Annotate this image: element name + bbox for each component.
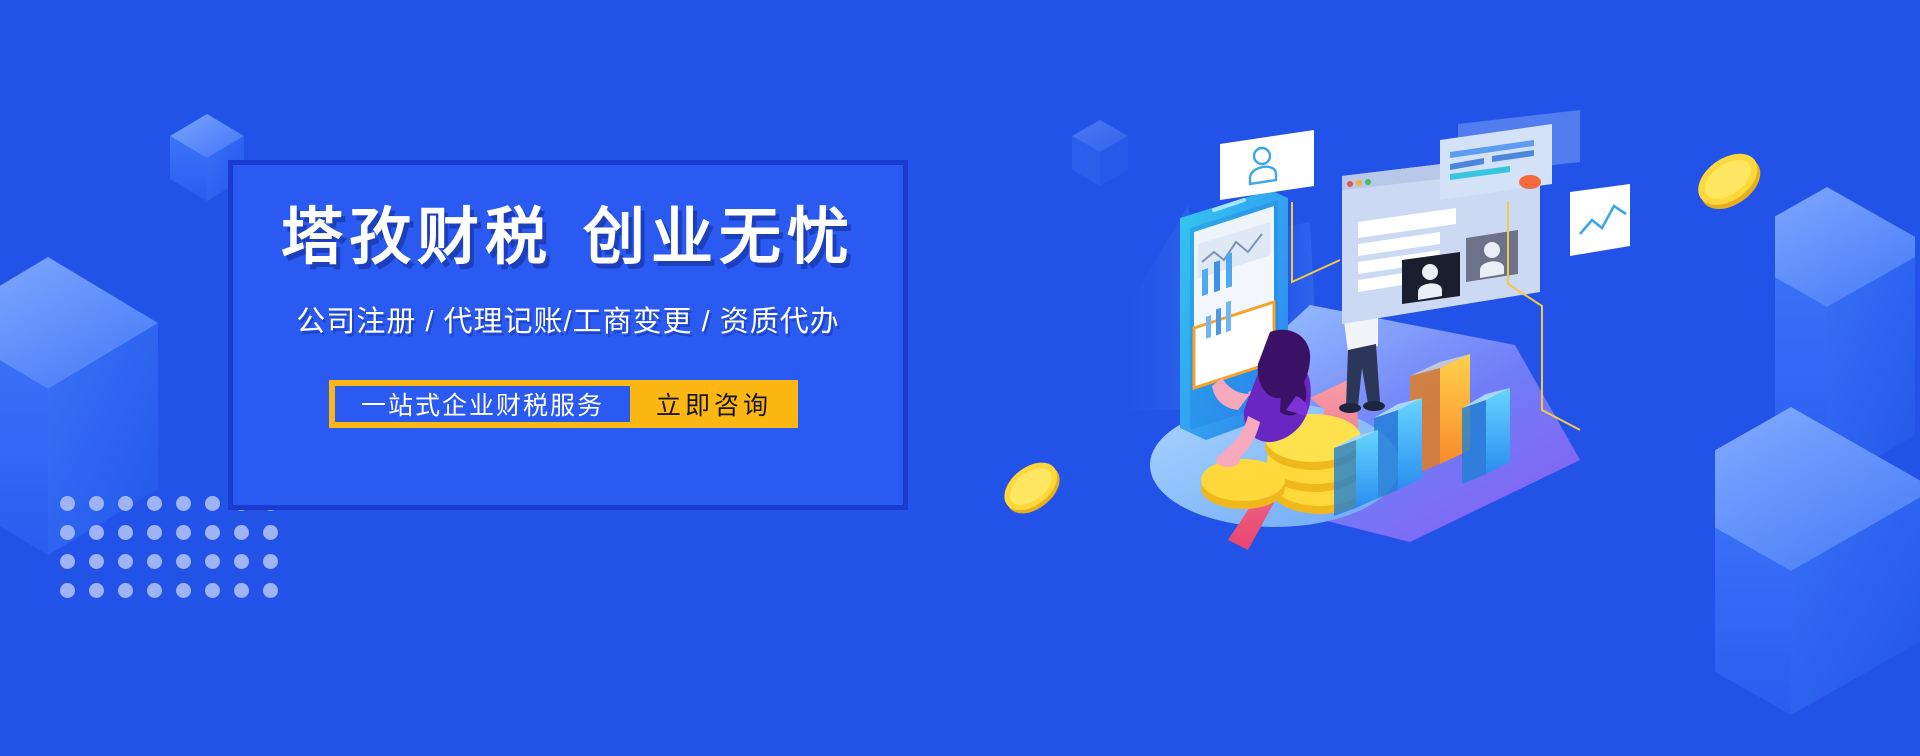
isometric-business-illustration	[1110, 110, 1630, 570]
gold-coin-icon-center	[996, 452, 1068, 524]
headline-part-2: 创业无忧	[583, 203, 855, 272]
services-subtitle: 公司注册 / 代理记账/工商变更 / 资质代办	[233, 298, 903, 340]
iso-block-icon-right-bottom	[1715, 405, 1920, 715]
consult-now-button[interactable]: 立即咨询	[636, 380, 798, 428]
line-chart-card	[1570, 184, 1630, 256]
gold-coin-icon-right	[1690, 142, 1768, 220]
profile-card	[1220, 130, 1314, 200]
dot-grid-pattern	[60, 496, 220, 596]
page-title: 塔孜财税创业无忧	[233, 205, 903, 270]
cta-row: 一站式企业财税服务 立即咨询	[329, 380, 798, 428]
credit-card	[1440, 110, 1580, 200]
headline-part-1: 塔孜财税	[281, 203, 553, 272]
headline-frame: 塔孜财税创业无忧 公司注册 / 代理记账/工商变更 / 资质代办 一站式企业财税…	[228, 160, 908, 510]
one-stop-service-tag: 一站式企业财税服务	[335, 386, 630, 422]
promo-banner: 塔孜财税创业无忧 公司注册 / 代理记账/工商变更 / 资质代办 一站式企业财税…	[0, 0, 1920, 756]
